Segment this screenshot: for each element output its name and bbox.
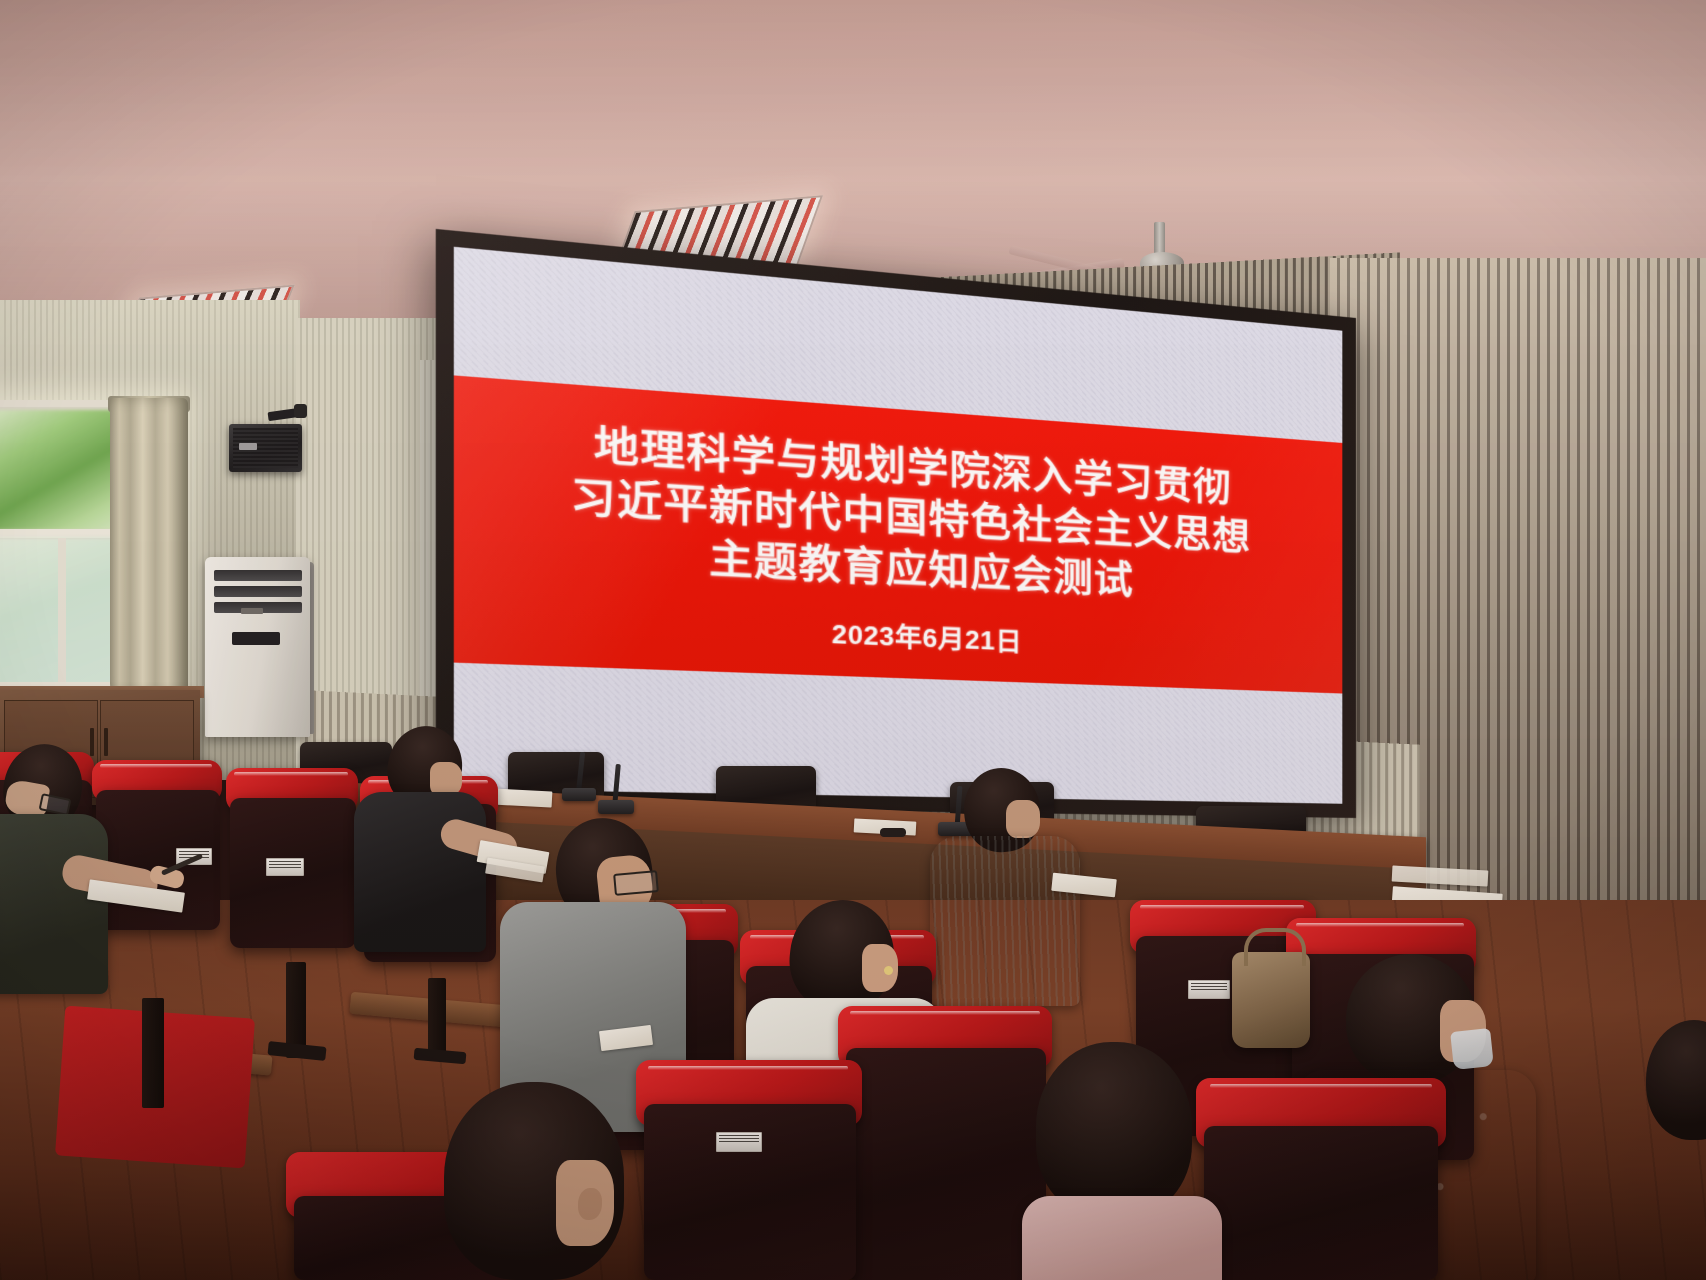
cabinet-handle[interactable]: [90, 728, 94, 756]
led-display-screen[interactable]: 地理科学与规划学院深入学习贯彻 习近平新时代中国特色社会主义思想 主题教育应知应…: [436, 229, 1356, 818]
seat-back[interactable]: [1204, 1126, 1438, 1280]
fan-downrod: [1154, 222, 1165, 256]
seat-piping: [1140, 905, 1304, 909]
microphone-base: [598, 800, 634, 814]
slide-date: 2023年6月21日: [832, 613, 1022, 658]
handbag-strap: [1244, 928, 1306, 966]
screen-surface: 地理科学与规划学院深入学习贯彻 习近平新时代中国特色社会主义思想 主题教育应知应…: [454, 247, 1343, 804]
attendee-face: [430, 762, 462, 796]
ac-vent: [214, 570, 302, 581]
microphone-base: [562, 788, 596, 801]
curtain: [110, 398, 188, 698]
ac-display-panel[interactable]: [232, 632, 280, 645]
glasses-icon: [613, 870, 659, 896]
attendee-torso: [0, 814, 108, 994]
photo-scene: 地理科学与规划学院深入学习贯彻 习近平新时代中国特色社会主义思想 主题教育应知应…: [0, 0, 1706, 1280]
seat-piping: [1210, 1084, 1432, 1088]
attendee-face: [1006, 800, 1040, 838]
seat-piping: [1296, 923, 1464, 927]
seat-back[interactable]: [644, 1104, 856, 1280]
seat-number-label: [266, 858, 304, 876]
seat-leg: [142, 998, 164, 1108]
ac-brand-logo: [241, 608, 263, 614]
seat-piping: [234, 772, 348, 776]
seat-piping: [100, 764, 212, 768]
attendee-ear: [578, 1188, 602, 1220]
ac-vent: [214, 586, 302, 597]
seat-back[interactable]: [846, 1048, 1046, 1280]
attendee-torso: [1022, 1196, 1222, 1280]
seat-piping: [850, 1011, 1040, 1015]
handbag[interactable]: [1232, 952, 1310, 1048]
remote-control[interactable]: [880, 828, 906, 837]
earring-icon: [884, 966, 893, 975]
air-conditioner-icon[interactable]: [205, 557, 310, 737]
paper-sheet[interactable]: [492, 788, 553, 807]
seat-number-label: [1188, 980, 1230, 999]
speaker-mount-knob: [294, 404, 307, 418]
face-mask-icon: [1450, 1028, 1494, 1070]
attendee-torso: [930, 836, 1080, 1006]
seat-piping: [648, 1066, 848, 1070]
speaker-badge: [239, 443, 257, 450]
attendee-torso: [354, 792, 486, 952]
attendee-head: [1036, 1042, 1192, 1218]
seat-leg: [428, 978, 446, 1058]
cabinet-handle[interactable]: [104, 728, 108, 756]
window-mullion: [58, 538, 66, 686]
seat-number-label: [716, 1132, 762, 1152]
